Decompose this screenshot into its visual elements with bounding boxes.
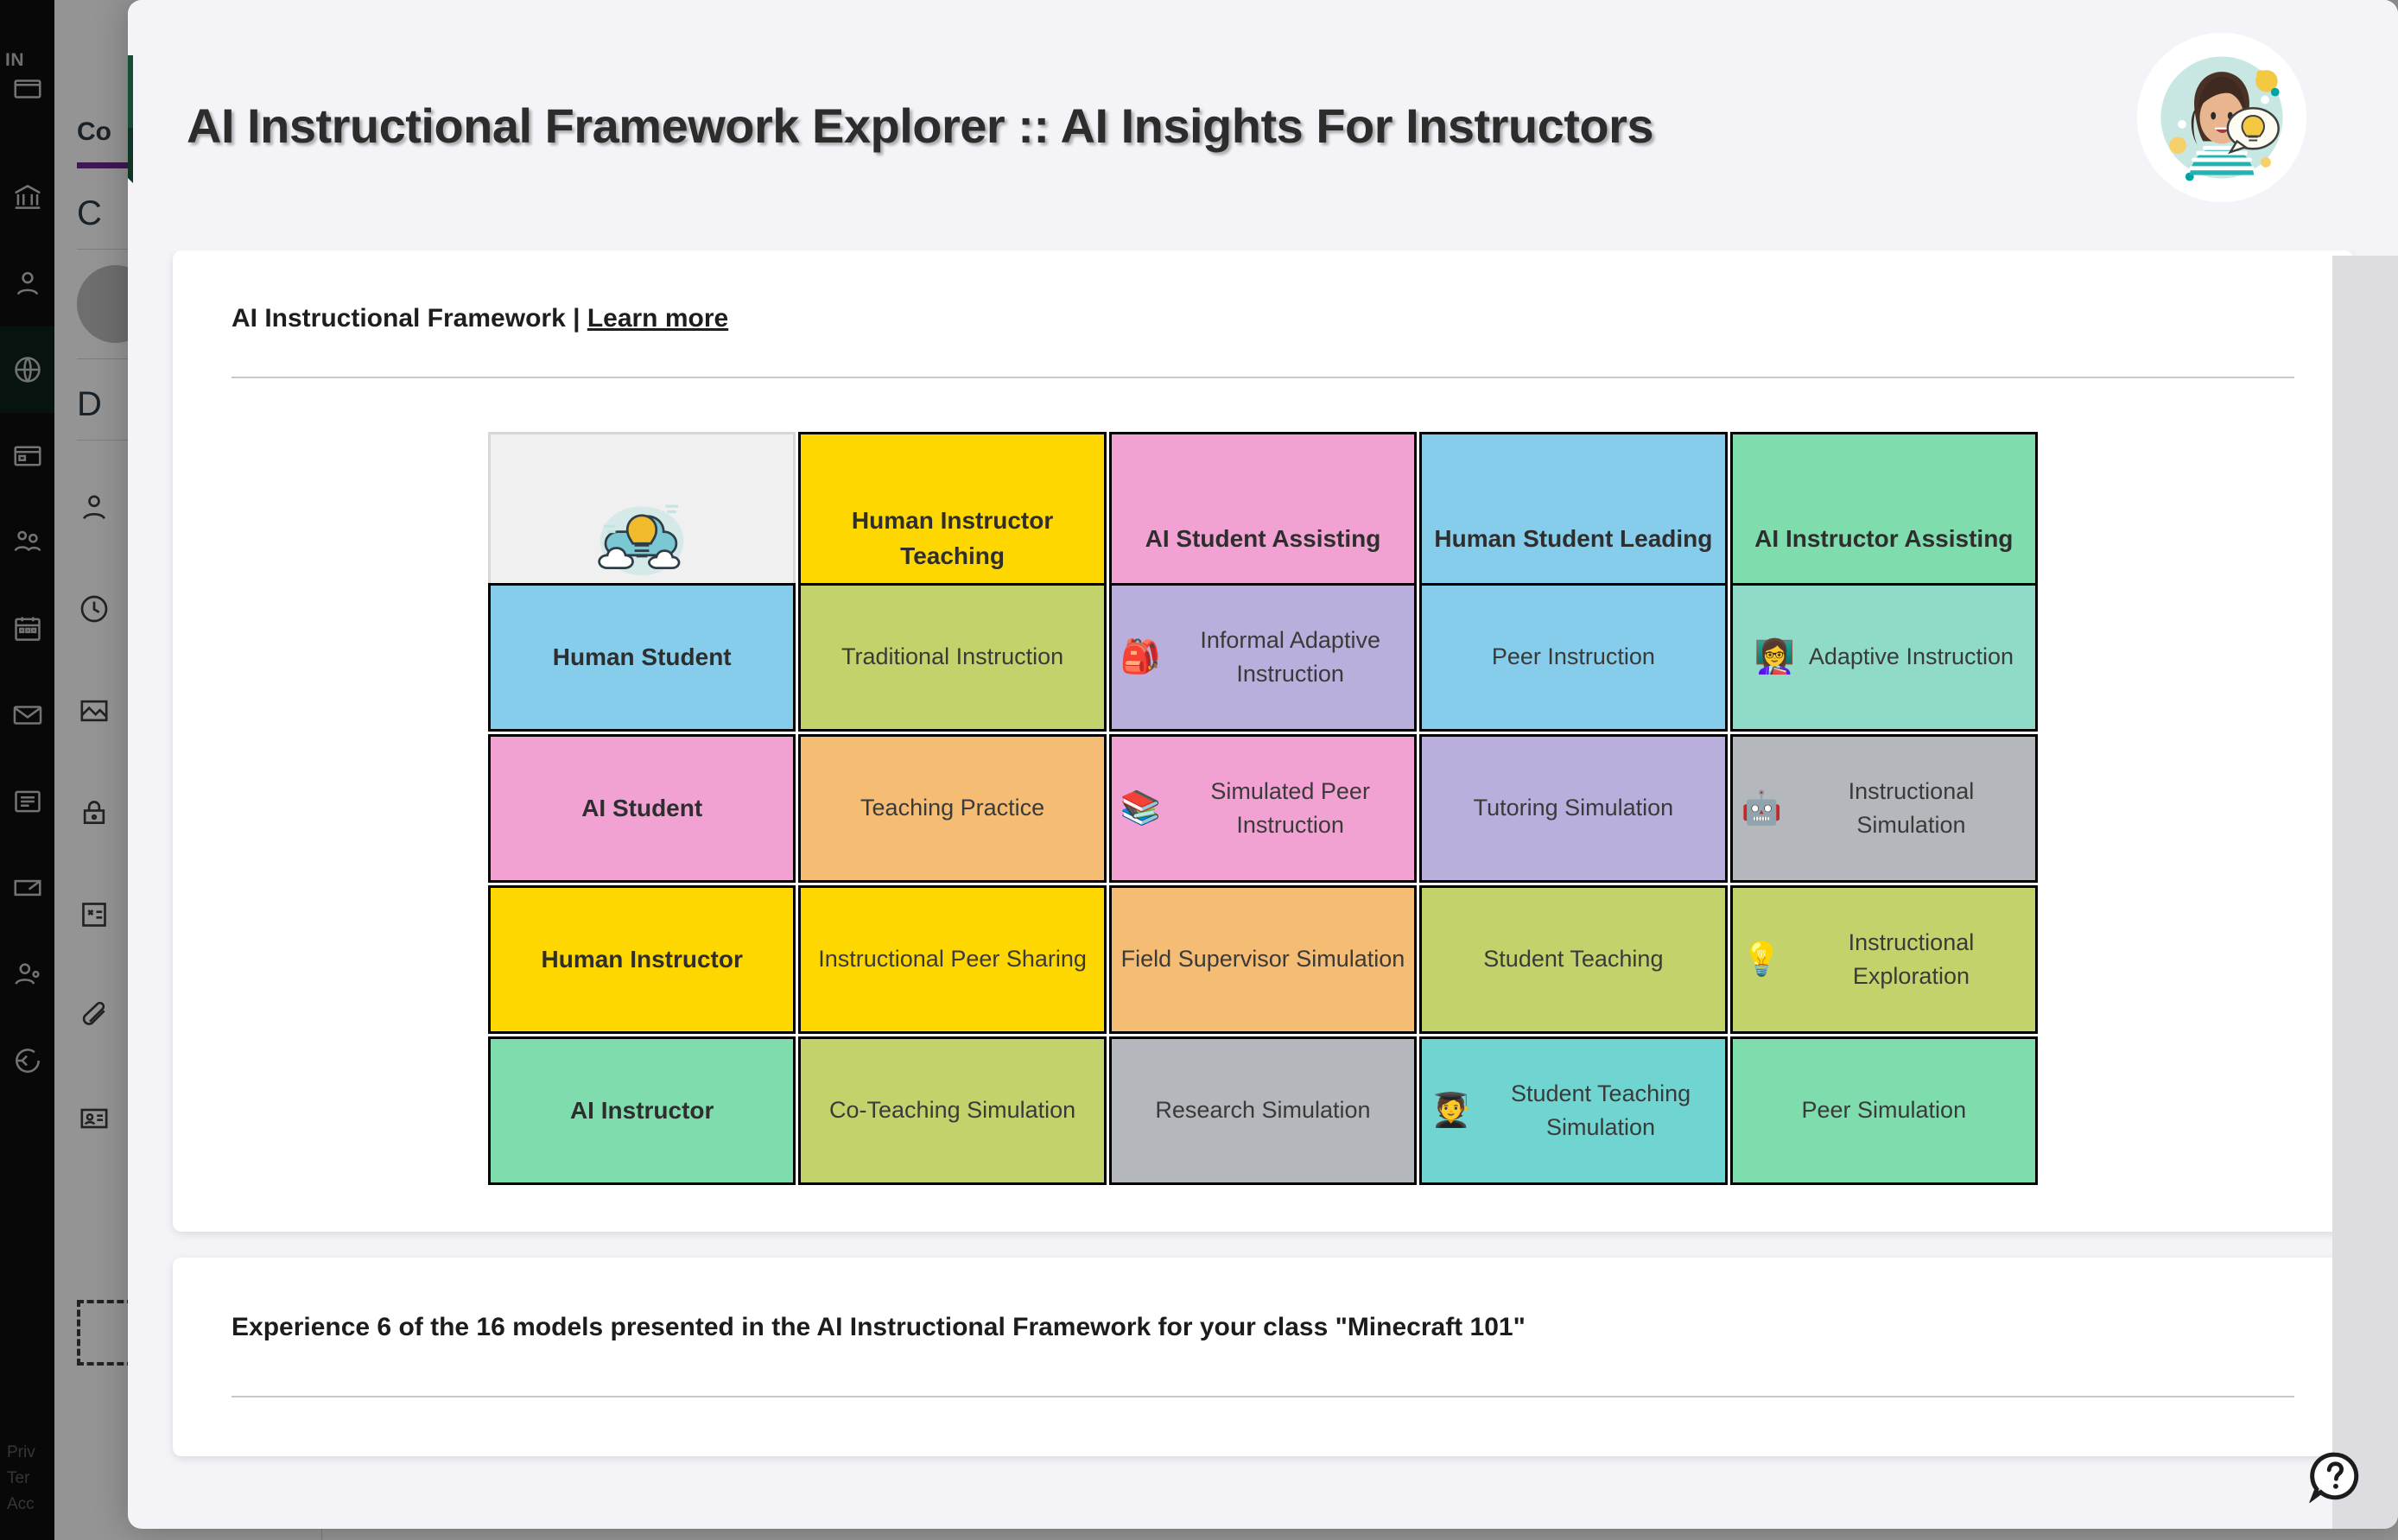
matrix-cell-3-0[interactable]: Co-Teaching Simulation: [798, 1036, 1106, 1185]
cell-label: Co-Teaching Simulation: [829, 1093, 1075, 1127]
framework-heading-text: AI Instructional Framework |: [232, 304, 587, 333]
instructor-avatar: [2137, 33, 2306, 202]
matrix-cell-1-0[interactable]: Teaching Practice: [798, 734, 1106, 883]
close-button-tail: [128, 128, 133, 183]
matrix-cell-0-2[interactable]: Peer Instruction: [1419, 583, 1727, 732]
cell-label: Instructional Peer Sharing: [818, 942, 1087, 976]
cell-label: Traditional Instruction: [841, 640, 1063, 674]
cell-label: AI Student: [581, 791, 702, 827]
close-button[interactable]: [128, 55, 133, 128]
matrix-cell-2-0[interactable]: Instructional Peer Sharing: [798, 885, 1106, 1034]
framework-card: AI Instructional Framework | Learn more …: [173, 250, 2353, 1232]
divider: [232, 1396, 2294, 1397]
page-title: AI Instructional Framework Explorer :: A…: [187, 98, 1653, 154]
help-button[interactable]: [2308, 1449, 2362, 1503]
cell-label: Instructional Simulation: [1796, 775, 2027, 842]
matrix-cell-3-1[interactable]: Research Simulation: [1109, 1036, 1417, 1185]
cell-emoji-icon: 🤖: [1741, 792, 1782, 825]
modal-right-strip: [2332, 256, 2398, 1529]
matrix-row-header-0[interactable]: Human Student: [488, 583, 796, 732]
matrix-cell-0-1[interactable]: 🎒Informal Adaptive Instruction: [1109, 583, 1417, 732]
cell-label: Teaching Practice: [860, 791, 1044, 825]
matrix-row-header-1[interactable]: AI Student: [488, 734, 796, 883]
instructor-avatar-icon: [2137, 33, 2306, 202]
cell-label: Research Simulation: [1155, 1093, 1370, 1127]
matrix-cell-2-3[interactable]: 💡Instructional Exploration: [1730, 885, 2038, 1034]
cell-label: Student Teaching: [1483, 942, 1663, 976]
lightbulb-cloud-icon: [587, 485, 696, 593]
cell-emoji-icon: 📚: [1120, 792, 1161, 825]
cell-label: AI Instructor Assisting: [1754, 522, 2013, 557]
matrix-row-header-2[interactable]: Human Instructor: [488, 885, 796, 1034]
cell-label: Peer Instruction: [1492, 640, 1655, 674]
matrix-row-header-3[interactable]: AI Instructor: [488, 1036, 796, 1185]
cell-label: Human Instructor Teaching: [809, 504, 1094, 574]
experience-card: Experience 6 of the 16 models presented …: [173, 1258, 2353, 1456]
cell-label: Simulated Peer Instruction: [1175, 775, 1405, 842]
cell-label: Peer Simulation: [1801, 1093, 1966, 1127]
cell-emoji-icon: 🎒: [1120, 641, 1161, 674]
cell-label: Adaptive Instruction: [1809, 640, 2014, 674]
matrix-cell-3-2[interactable]: 🧑‍🎓Student Teaching Simulation: [1419, 1036, 1727, 1185]
matrix-cell-2-1[interactable]: Field Supervisor Simulation: [1109, 885, 1417, 1034]
framework-explorer-modal: AI Instructional Framework Explorer :: A…: [128, 0, 2398, 1529]
divider: [232, 377, 2294, 378]
help-icon: [2308, 1449, 2362, 1503]
cell-label: AI Student Assisting: [1145, 522, 1381, 557]
modal-header: AI Instructional Framework Explorer :: A…: [128, 0, 2398, 250]
matrix-cell-1-3[interactable]: 🤖Instructional Simulation: [1730, 734, 2038, 883]
cell-label: Instructional Exploration: [1796, 926, 2027, 993]
cell-label: Informal Adaptive Instruction: [1175, 624, 1405, 691]
matrix-cell-1-1[interactable]: 📚Simulated Peer Instruction: [1109, 734, 1417, 883]
cell-label: Human Student Leading: [1434, 522, 1712, 557]
matrix-cell-0-0[interactable]: Traditional Instruction: [798, 583, 1106, 732]
framework-card-heading: AI Instructional Framework | Learn more: [232, 304, 2294, 333]
cell-label: Human Student: [553, 640, 732, 675]
cell-label: Field Supervisor Simulation: [1121, 942, 1405, 976]
framework-matrix: Human Instructor TeachingAI Student Assi…: [488, 432, 2038, 1185]
experience-heading: Experience 6 of the 16 models presented …: [232, 1313, 2294, 1342]
cell-emoji-icon: 👩‍🏫: [1754, 641, 1795, 674]
matrix-cell-0-3[interactable]: 👩‍🏫Adaptive Instruction: [1730, 583, 2038, 732]
cell-emoji-icon: 🧑‍🎓: [1431, 1094, 1471, 1127]
cell-emoji-icon: 💡: [1741, 943, 1782, 976]
cell-label: Student Teaching Simulation: [1486, 1077, 1716, 1144]
matrix-cell-1-2[interactable]: Tutoring Simulation: [1419, 734, 1727, 883]
cell-label: AI Instructor: [570, 1093, 714, 1129]
learn-more-link[interactable]: Learn more: [587, 304, 728, 333]
cell-label: Tutoring Simulation: [1474, 791, 1674, 825]
matrix-cell-3-3[interactable]: Peer Simulation: [1730, 1036, 2038, 1185]
matrix-cell-2-2[interactable]: Student Teaching: [1419, 885, 1727, 1034]
cell-label: Human Instructor: [542, 942, 743, 978]
